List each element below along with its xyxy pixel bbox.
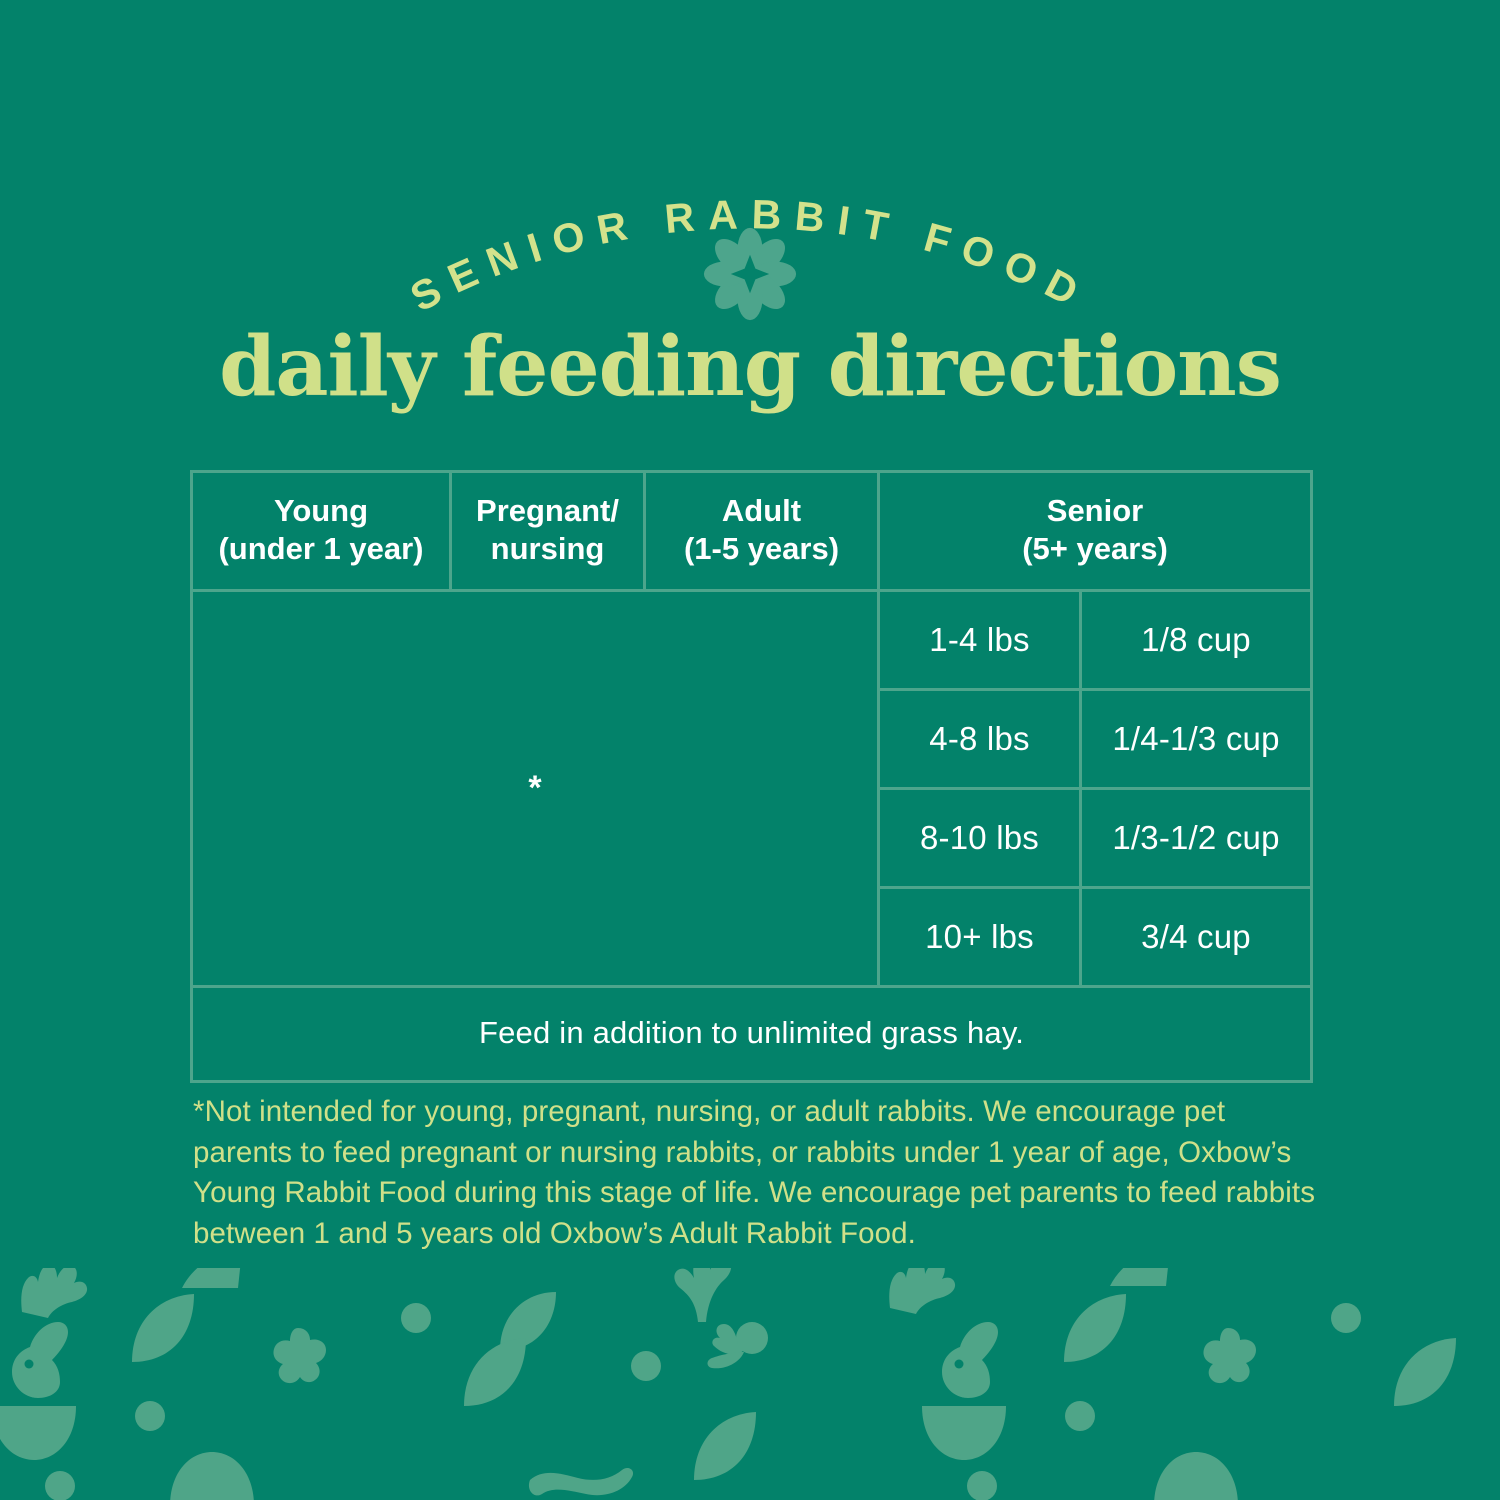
- senior-amount-1: 1/8 cup: [1081, 590, 1312, 689]
- header-young-line2: (under 1 year): [218, 531, 423, 566]
- header-pregnant-nursing: Pregnant/ nursing: [451, 472, 645, 591]
- table-row: * 1-4 lbs 1/8 cup: [192, 590, 1312, 689]
- header-young-line1: Young: [274, 493, 368, 528]
- senior-amount-2: 1/4-1/3 cup: [1081, 689, 1312, 788]
- feeding-directions-table: Young (under 1 year) Pregnant/ nursing A…: [190, 470, 1313, 1083]
- senior-weight-2: 4-8 lbs: [879, 689, 1081, 788]
- senior-weight-3: 8-10 lbs: [879, 788, 1081, 887]
- senior-weight-1: 1-4 lbs: [879, 590, 1081, 689]
- table-header-row: Young (under 1 year) Pregnant/ nursing A…: [192, 472, 1312, 591]
- header-adult-line2: (1-5 years): [684, 531, 839, 566]
- senior-amount-3: 1/3-1/2 cup: [1081, 788, 1312, 887]
- product-packaging-panel: SENIOR RABBIT FOOD: [0, 0, 1500, 1500]
- senior-amount-4: 3/4 cup: [1081, 887, 1312, 986]
- table-footer-row: Feed in addition to unlimited grass hay.: [192, 986, 1312, 1081]
- senior-weight-4: 10+ lbs: [879, 887, 1081, 986]
- header-senior: Senior (5+ years): [879, 472, 1312, 591]
- rabbit-and-veggie-pattern: [0, 1268, 1500, 1500]
- header-adult-line1: Adult: [722, 493, 801, 528]
- page-title: daily feeding directions: [0, 326, 1500, 408]
- disclaimer-footnote: *Not intended for young, pregnant, nursi…: [193, 1092, 1318, 1255]
- header-pregnant-line2: nursing: [491, 531, 605, 566]
- header-senior-line1: Senior: [1047, 493, 1143, 528]
- table-footer-note: Feed in addition to unlimited grass hay.: [192, 986, 1312, 1081]
- header-pregnant-line1: Pregnant/: [476, 493, 619, 528]
- not-applicable-cell: *: [192, 590, 879, 986]
- header-young: Young (under 1 year): [192, 472, 451, 591]
- flower-rosette-icon: [702, 226, 798, 322]
- header-adult: Adult (1-5 years): [645, 472, 879, 591]
- header-senior-line2: (5+ years): [1022, 531, 1168, 566]
